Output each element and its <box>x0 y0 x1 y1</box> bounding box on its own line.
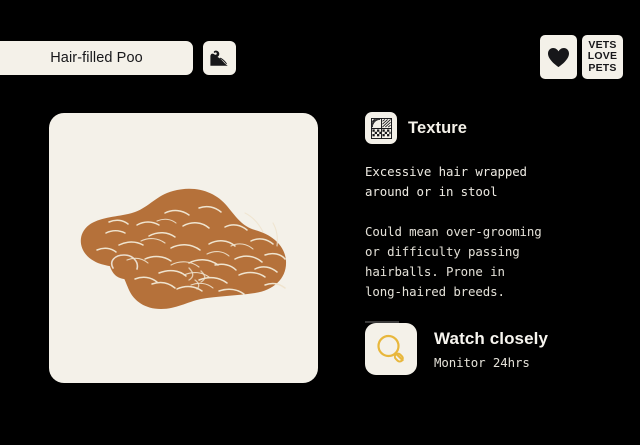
section-header: Texture <box>365 112 610 144</box>
brand-line-3: PETS <box>588 63 616 74</box>
primary-description: Excessive hair wrapped around or in stoo… <box>365 162 610 202</box>
info-panel: Texture Excessive hair wrapped around or… <box>365 112 610 323</box>
magnifier-icon <box>365 323 417 375</box>
brand-line-2: LOVE <box>588 51 617 62</box>
section-title: Texture <box>408 119 467 138</box>
texture-pattern-icon-glyph <box>371 118 392 139</box>
brand-wordmark: VETS LOVE PETS <box>582 35 623 79</box>
heart-icon <box>540 35 577 79</box>
magnifier-icon-glyph <box>374 332 408 366</box>
poo-guide-screen: Hair-filled Poo VETS LOVE PETS <box>0 0 640 445</box>
advice-title: Watch closely <box>434 329 548 349</box>
hair-filled-stool-illustration <box>49 113 318 383</box>
advice-subtitle: Monitor 24hrs <box>434 355 548 370</box>
page-title-pill: Hair-filled Poo <box>0 41 193 75</box>
secondary-description: Could mean over-grooming or difficulty p… <box>365 222 610 302</box>
dog-stool-icon-glyph <box>208 47 231 70</box>
heart-icon-glyph <box>547 47 570 68</box>
stool-image-card <box>49 113 318 383</box>
page-title: Hair-filled Poo <box>50 50 143 66</box>
advice-row: Watch closely Monitor 24hrs <box>365 323 548 375</box>
brand-logo: VETS LOVE PETS <box>540 35 623 79</box>
dog-stool-icon <box>203 41 236 75</box>
texture-pattern-icon <box>365 112 397 144</box>
advice-text-group: Watch closely Monitor 24hrs <box>434 329 548 370</box>
